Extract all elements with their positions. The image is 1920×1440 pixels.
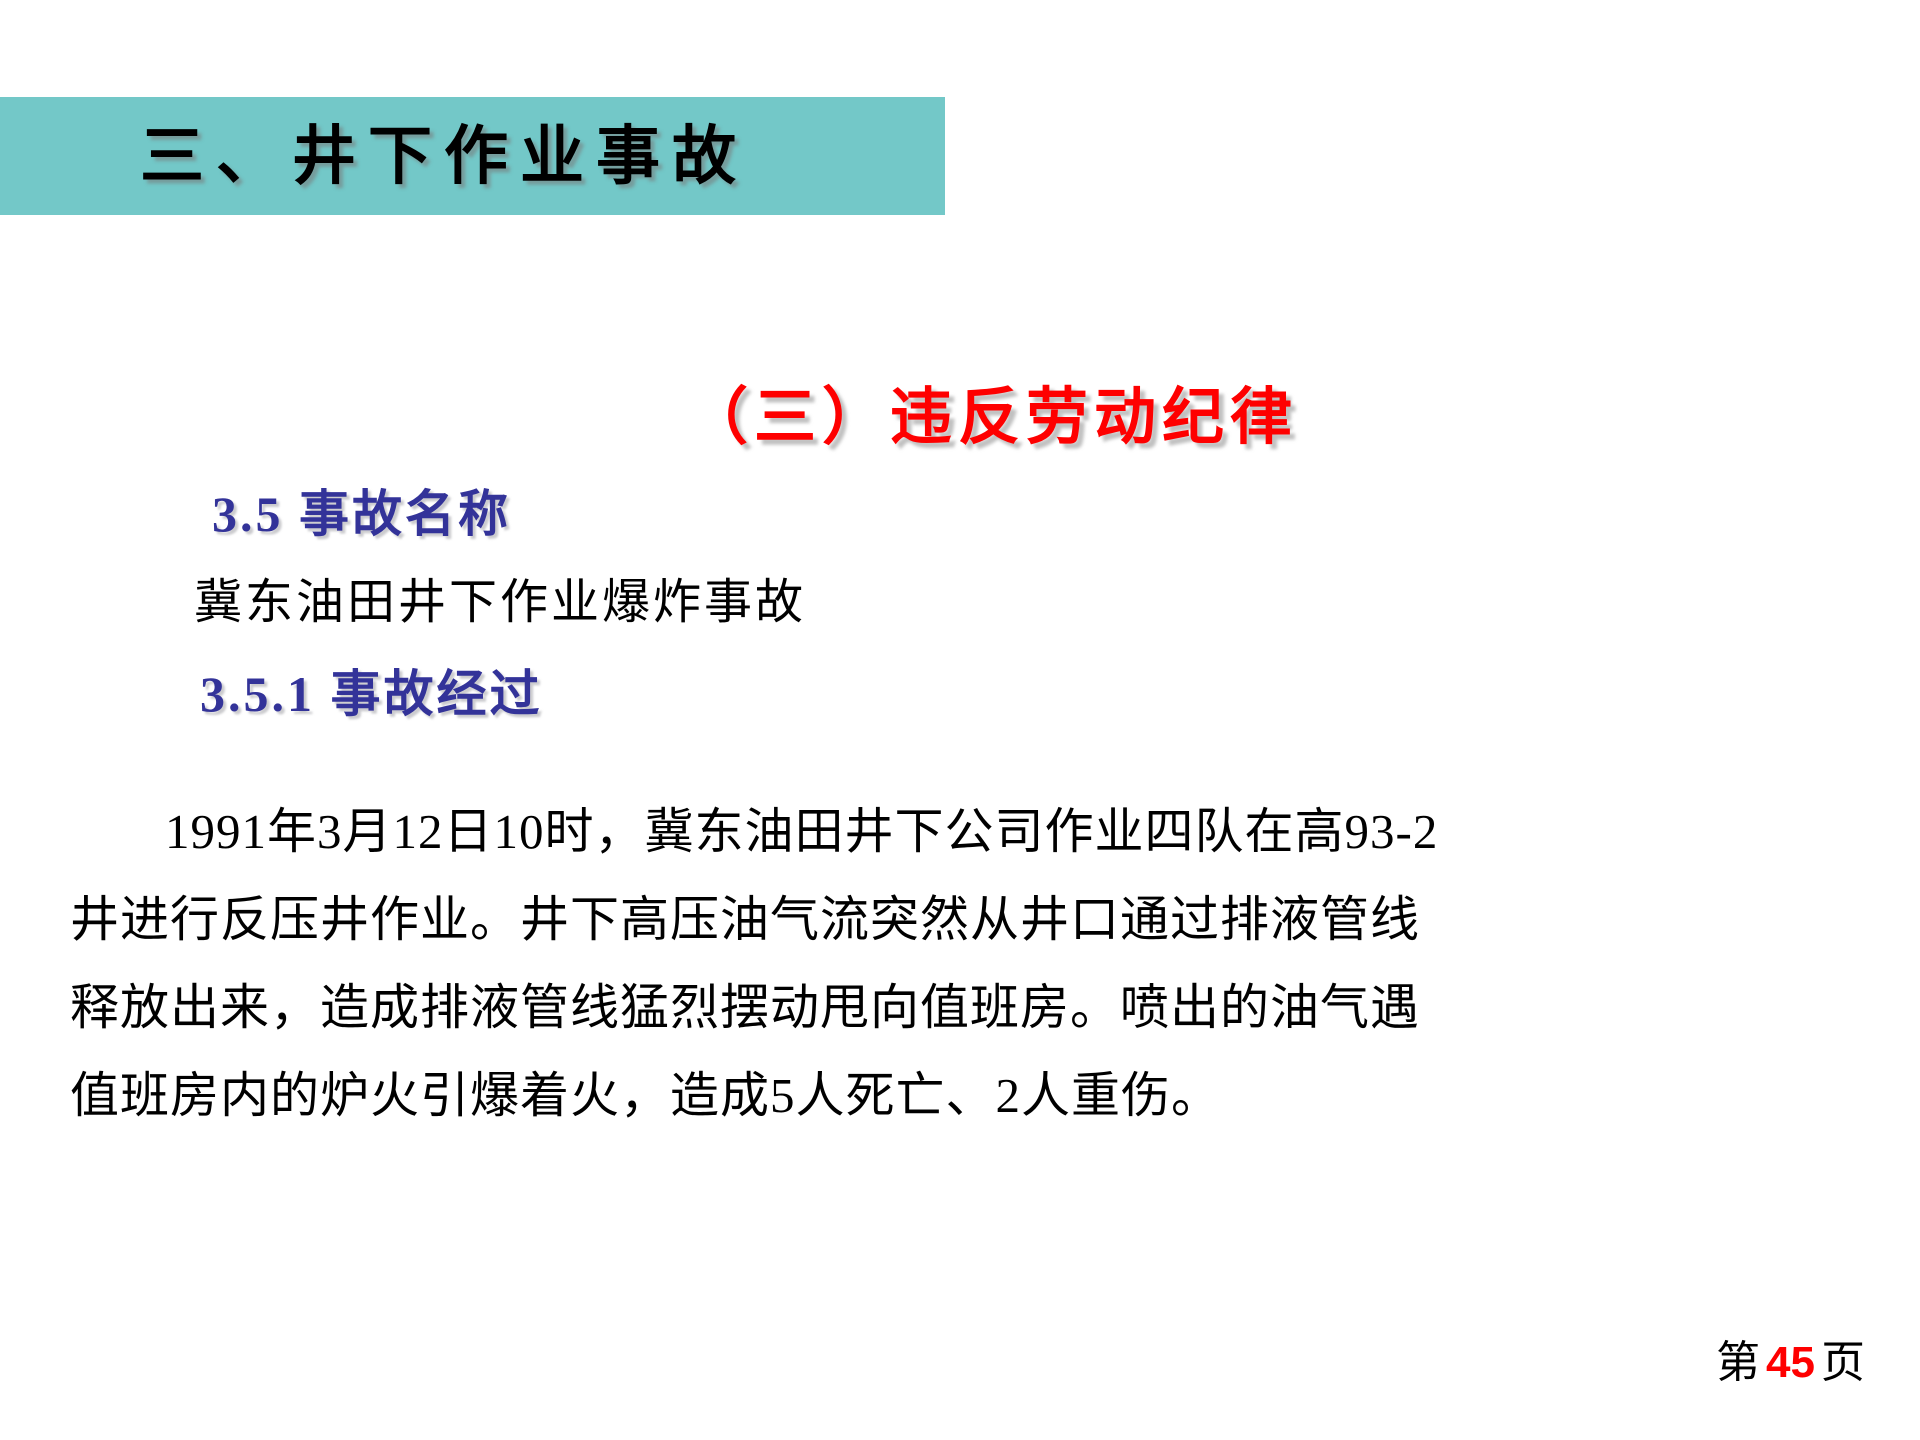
- accident-description-paragraph: 1991年3月12日10时，冀东油田井下公司作业四队在高93-2 井进行反压井作…: [70, 788, 1860, 1140]
- section-heading: （三）违反劳动纪律: [686, 366, 1298, 456]
- page-title: 三、井下作业事故: [140, 103, 930, 211]
- body-line-3: 释放出来，造成排液管线猛烈摆动甩向值班房。喷出的油气遇: [70, 964, 1860, 1052]
- page-label-suffix: 页: [1821, 1338, 1865, 1387]
- accident-name-text: 冀东油田井下作业爆炸事故: [194, 562, 806, 632]
- subsection-heading-3-5: 3.5 事故名称: [212, 474, 511, 546]
- body-line-1: 1991年3月12日10时，冀东油田井下公司作业四队在高93-2: [70, 788, 1860, 876]
- subsection-heading-3-5-1: 3.5.1 事故经过: [200, 654, 543, 726]
- slide-canvas: 三、井下作业事故 （三）违反劳动纪律 3.5 事故名称 冀东油田井下作业爆炸事故…: [0, 0, 1920, 1440]
- body-line-4: 值班房内的炉火引爆着火，造成5人死亡、2人重伤。: [70, 1052, 1860, 1140]
- body-line-2: 井进行反压井作业。井下高压油气流突然从井口通过排液管线: [70, 876, 1860, 964]
- page-footer: 第45页: [1716, 1326, 1865, 1390]
- page-label-prefix: 第: [1716, 1338, 1760, 1387]
- page-number: 45: [1760, 1338, 1821, 1387]
